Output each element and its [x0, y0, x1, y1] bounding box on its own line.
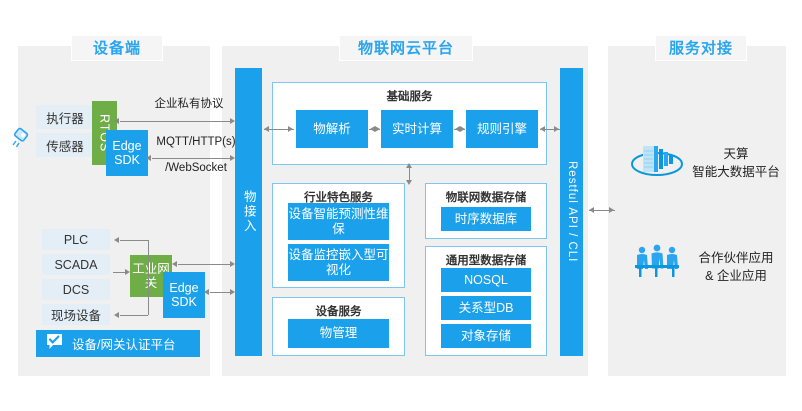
gateway-bracket-bottom [120, 315, 148, 316]
field-device-onsite-label: 现场设备 [51, 305, 101, 324]
iot-storage-item-tsdb[interactable]: 时序数据库 [441, 207, 531, 231]
field-device-plc[interactable]: PLC [42, 229, 110, 250]
basic-service-item-realtime-compute[interactable]: 实时计算 [381, 110, 453, 148]
fielddev-to-gateway-arrow [125, 269, 130, 275]
edge-sdk-bottom-box[interactable]: Edge SDK [163, 272, 205, 318]
sensor-chip-icon [10, 125, 36, 156]
field-device-plc-label: PLC [64, 233, 88, 247]
gateway-bracket-top [120, 240, 148, 241]
industry-service-item-predictive-maintenance-label: 设备智能预测性维保 [288, 207, 389, 236]
ingest-bar-label: 物接入 [241, 190, 255, 234]
api-bar[interactable]: Restful API / CLI [560, 68, 583, 356]
industry-service-item-predictive-maintenance[interactable]: 设备智能预测性维保 [288, 203, 389, 240]
mqtt-line [152, 158, 230, 159]
basic-to-api-arrow-right [554, 126, 559, 132]
device-endpoint-sensor-label: 传感器 [46, 136, 84, 155]
field-device-onsite[interactable]: 现场设备 [42, 304, 110, 325]
panel-title-iot-platform: 物联网云平台 [339, 35, 473, 61]
mqtt-label-line1: MQTT/HTTP(s) [150, 136, 242, 148]
api-bar-label: Restful API / CLI [565, 161, 578, 262]
device-gateway-auth-label: 设备/网关认证平台 [72, 334, 175, 353]
basic-to-api-arrow-left [540, 126, 545, 132]
api-to-service-arrow-right [609, 207, 614, 213]
industry-service-item-monitor-visualization[interactable]: 设备监控嵌入型可视化 [288, 244, 389, 281]
service-item-partner-text: 合作伙伴应用 & 企业应用 [684, 249, 788, 285]
private-protocol-label: 企业私有协议 [134, 95, 244, 111]
device-endpoint-actuator-label: 执行器 [46, 108, 84, 127]
basic-service-title: 基础服务 [273, 88, 546, 104]
gateway-bracket-bottom-arrow [114, 312, 119, 318]
general-storage-item-rdb[interactable]: 关系型DB [441, 296, 531, 320]
device-endpoint-sensor[interactable]: 传感器 [36, 133, 94, 157]
gateway-bracket-top-arrow [114, 237, 119, 243]
field-device-dcs-label: DCS [63, 283, 89, 297]
device-service-title: 设备服务 [273, 303, 404, 319]
basic-to-lower-arrow-down [406, 180, 412, 185]
basic-service-item-rule-engine[interactable]: 规则引擎 [466, 110, 538, 148]
parse-to-compute-arrow-right [375, 126, 380, 132]
service-item-partner-line2: & 企业应用 [684, 267, 788, 285]
general-storage-item-nosql-label: NOSQL [464, 273, 508, 287]
mqtt-label-line2: /WebSocket [150, 162, 242, 174]
gateway-to-platform-line [178, 264, 230, 265]
partner-meeting-icon [631, 243, 683, 284]
diagram-canvas: 设备端 物联网云平台 服务对接 执行器 传感器 RTOS Edge SDK PL… [0, 0, 802, 411]
field-device-scada-label: SCADA [54, 258, 97, 272]
device-service-item-thing-management[interactable]: 物管理 [288, 319, 389, 348]
general-storage-item-rdb-label: 关系型DB [459, 301, 514, 315]
industry-service-item-monitor-visualization-label: 设备监控嵌入型可视化 [288, 248, 389, 277]
mqtt-arrow-left [146, 155, 151, 161]
general-storage-item-nosql[interactable]: NOSQL [441, 268, 531, 292]
panel-title-service-integration: 服务对接 [655, 35, 747, 61]
device-service-item-thing-management-label: 物管理 [320, 326, 358, 340]
edge-sdk-top-box[interactable]: Edge SDK [106, 130, 148, 176]
private-protocol-arrow-left [114, 118, 119, 124]
service-item-partner-line1: 合作伙伴应用 [684, 249, 788, 267]
basic-service-item-parse[interactable]: 物解析 [296, 110, 368, 148]
basic-service-item-rule-engine-label: 规则引擎 [477, 122, 527, 136]
service-item-bigdata-line2: 智能大数据平台 [686, 163, 786, 181]
compute-to-rule-arrow-right [460, 126, 465, 132]
ingest-to-basic-arrow-right [288, 126, 293, 132]
bigdata-platform-icon [629, 138, 685, 185]
general-storage-item-object-storage[interactable]: 对象存储 [441, 324, 531, 348]
panel-title-device-side: 设备端 [71, 35, 163, 61]
ingest-to-basic-arrow-left [264, 126, 269, 132]
fielddev-to-gateway-line [113, 272, 125, 273]
field-device-dcs[interactable]: DCS [42, 279, 110, 300]
service-item-bigdata-line1: 天算 [686, 145, 786, 163]
edge-sdk-top-label: Edge SDK [106, 139, 148, 168]
general-storage-item-object-storage-label: 对象存储 [461, 329, 511, 343]
basic-service-item-realtime-compute-label: 实时计算 [392, 122, 442, 136]
gateway-to-platform-arrow-left [172, 261, 177, 267]
edgesdk-to-platform-arrow-left [204, 289, 209, 295]
basic-to-lower-arrow-up [406, 163, 412, 168]
device-gateway-auth-banner[interactable]: 设备/网关认证平台 [36, 330, 200, 357]
edge-sdk-bottom-label: Edge SDK [163, 281, 205, 310]
service-item-bigdata-text: 天算 智能大数据平台 [686, 145, 786, 181]
field-device-scada[interactable]: SCADA [42, 254, 110, 275]
general-storage-title: 通用型数据存储 [426, 252, 546, 268]
iot-storage-item-tsdb-label: 时序数据库 [455, 212, 518, 226]
panel-service-integration [608, 46, 786, 376]
check-bubble-icon [46, 333, 63, 355]
gateway-bracket-vline [148, 240, 149, 315]
iot-storage-title: 物联网数据存储 [426, 189, 546, 205]
basic-service-item-parse-label: 物解析 [313, 122, 351, 136]
api-to-service-arrow-left [589, 207, 594, 213]
private-protocol-line [120, 121, 230, 122]
edgesdk-to-platform-line [210, 292, 230, 293]
device-endpoint-actuator[interactable]: 执行器 [36, 105, 94, 129]
ingest-bar[interactable]: 物接入 [235, 68, 262, 356]
